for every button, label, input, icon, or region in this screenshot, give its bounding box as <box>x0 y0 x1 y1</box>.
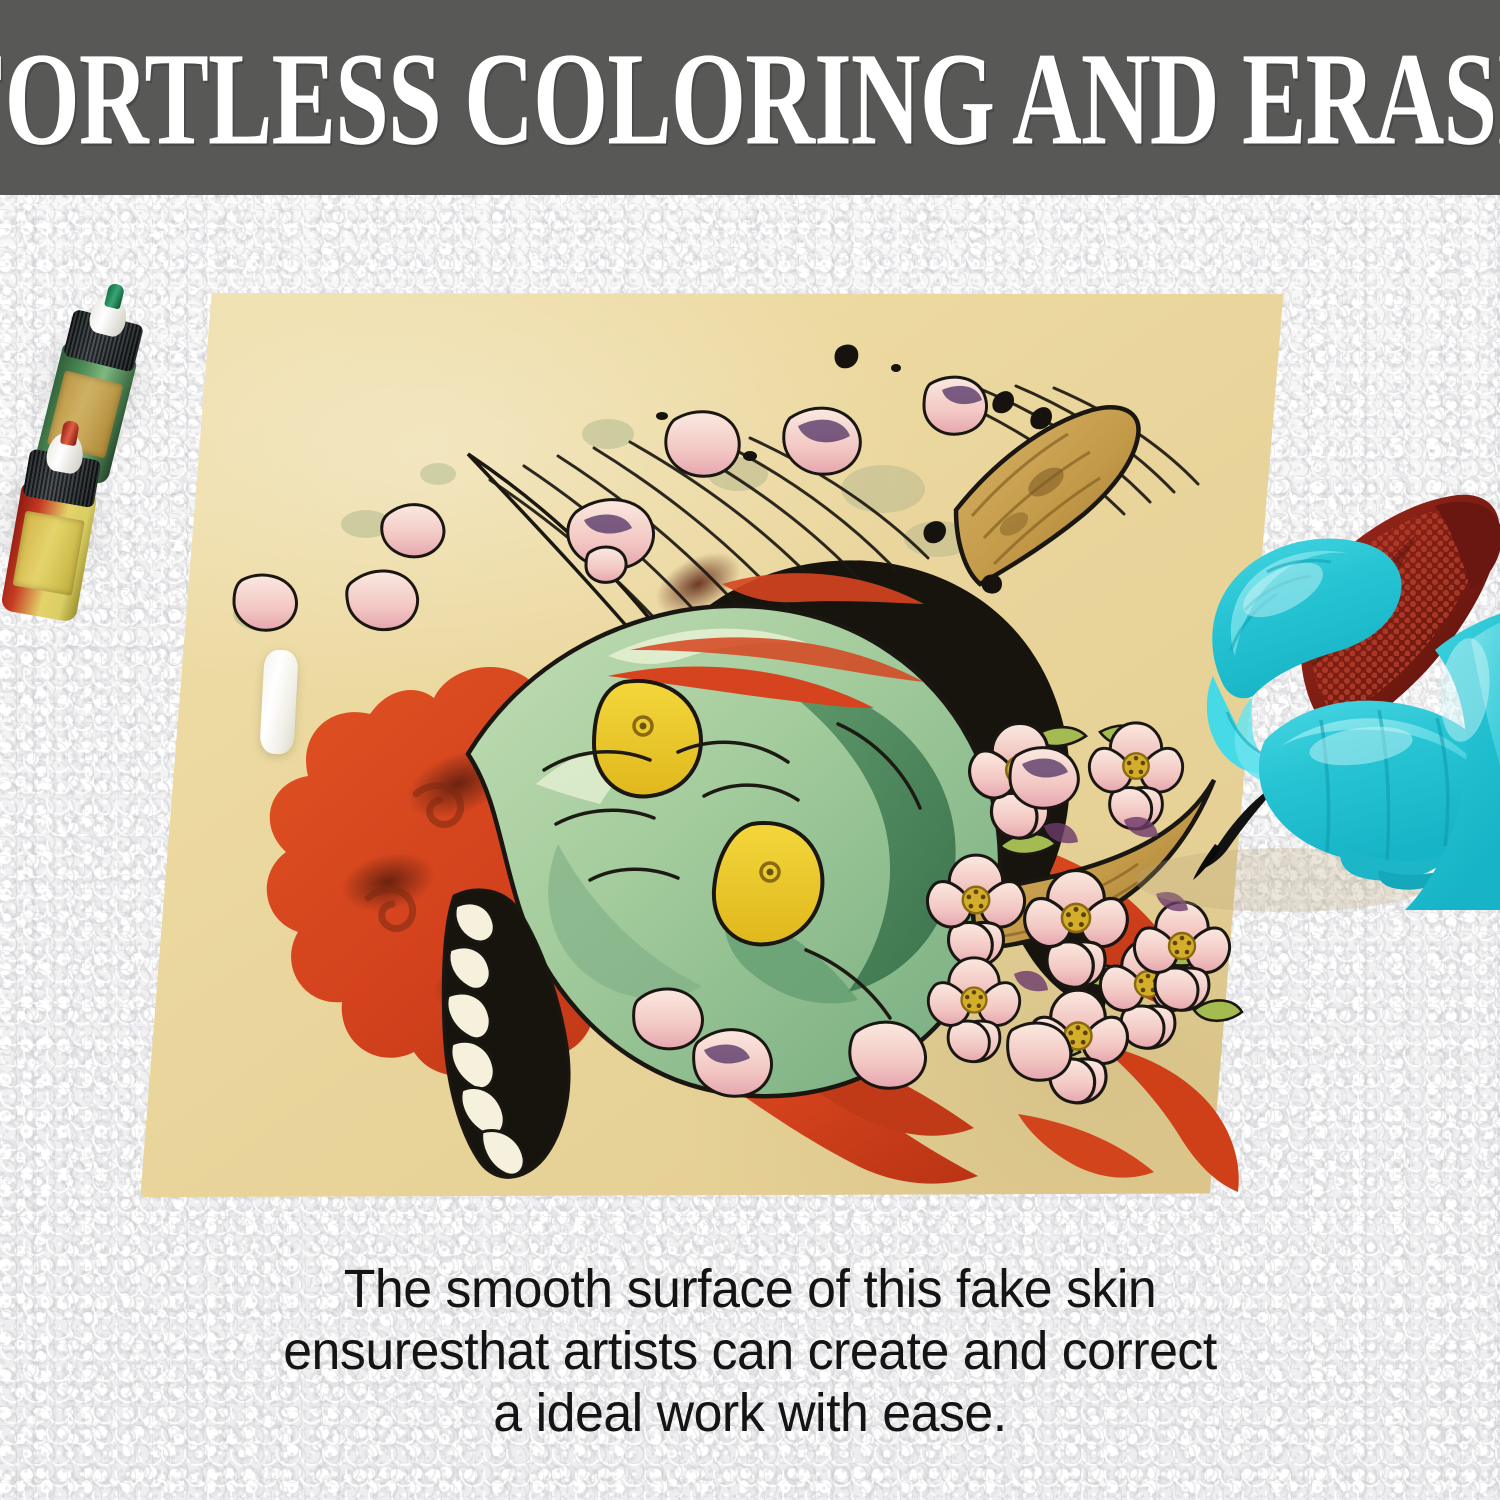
caption-block: The smooth surface of this fake skin ens… <box>0 1258 1500 1444</box>
caption-line-3: a ideal work with ease. <box>30 1382 1470 1444</box>
falling-petals-bottom <box>694 1022 1071 1096</box>
hand-svg <box>1135 480 1500 910</box>
header-title: EFFORTLESS COLORING AND ERASING <box>0 33 1500 166</box>
header-band: EFFORTLESS COLORING AND ERASING <box>0 0 1500 195</box>
caption-line-2: ensuresthat artists can create and corre… <box>30 1320 1470 1382</box>
gloved-hand-with-tattoo-machine <box>1135 480 1500 910</box>
caption-line-1: The smooth surface of this fake skin <box>30 1258 1470 1320</box>
tattoo-artwork <box>138 284 1288 1199</box>
tattoo-artwork-svg <box>138 284 1288 1199</box>
product-marketing-image: EFFORTLESS COLORING AND ERASING The smoo… <box>0 0 1500 1500</box>
oni-horn <box>956 407 1139 584</box>
